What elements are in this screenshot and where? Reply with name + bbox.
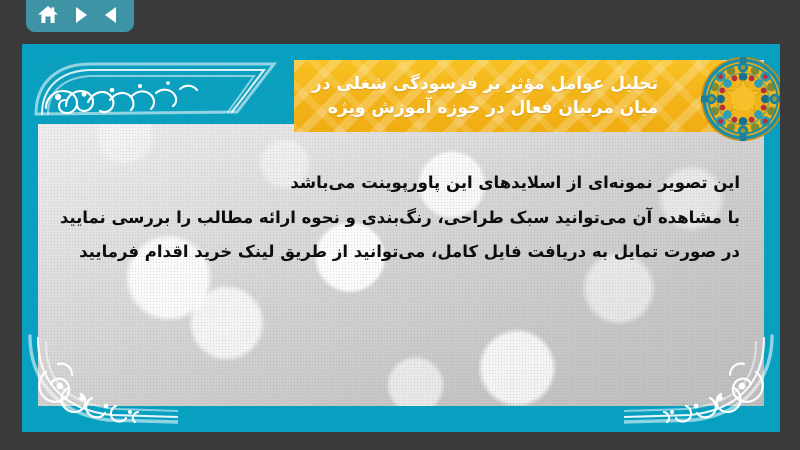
persian-medallion-icon	[700, 56, 780, 142]
home-icon	[37, 5, 59, 25]
title-banner: تحلیل عوامل مؤثر بر فرسودگی شغلی در میان…	[294, 60, 724, 132]
body-line-1: این تصویر نمونه‌ای از اسلایدهای این پاور…	[50, 170, 740, 196]
body-line-3: در صورت تمایل به دریافت فایل کامل، می‌تو…	[50, 239, 740, 265]
triangle-right-icon	[70, 5, 90, 25]
title-line-1: تحلیل عوامل مؤثر بر فرسودگی شغلی در	[306, 72, 658, 96]
body-line-2: با مشاهده آن می‌توانید سبک طراحی، رنگ‌بن…	[50, 205, 740, 231]
triangle-left-icon	[102, 5, 122, 25]
slide-body-text: این تصویر نمونه‌ای از اسلایدهای این پاور…	[50, 170, 740, 274]
navigation-bar	[26, 0, 134, 32]
slide-frame: تحلیل عوامل مؤثر بر فرسودگی شغلی در میان…	[22, 44, 780, 432]
forward-button[interactable]	[67, 4, 93, 26]
title-line-2: میان مربیان فعال در حوزه آموزش ویژه	[306, 96, 658, 120]
home-button[interactable]	[35, 4, 61, 26]
slide-viewer: تحلیل عوامل مؤثر بر فرسودگی شغلی در میان…	[0, 0, 800, 450]
back-button[interactable]	[99, 4, 125, 26]
